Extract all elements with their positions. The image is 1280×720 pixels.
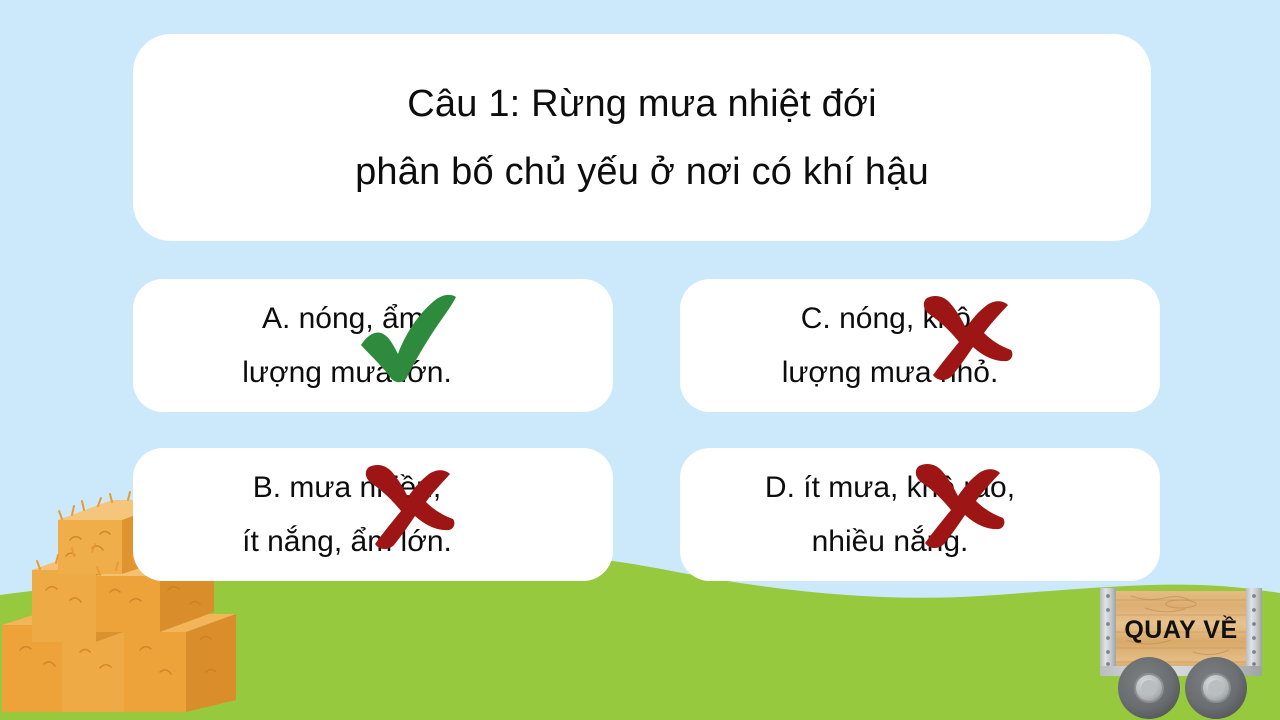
option-card-b[interactable]: B. mưa nhiều, ít nắng, ẩm lớn. — [133, 448, 613, 581]
option-a-text: A. nóng, ẩm, lượng mưa lớn. — [242, 304, 452, 388]
option-card-c[interactable]: C. nóng, khô, lượng mưa nhỏ. — [680, 279, 1160, 412]
option-c-line-1: C. nóng, khô, — [782, 304, 999, 334]
quiz-slide: Câu 1: Rừng mưa nhiệt đới phân bố chủ yế… — [0, 0, 1280, 720]
option-b-line-1: B. mưa nhiều, — [242, 473, 452, 503]
question-line-2: phân bố chủ yếu ở nơi có khí hậu — [355, 153, 929, 191]
option-a-line-2: lượng mưa lớn. — [242, 358, 452, 388]
option-d-text: D. ít mưa, khô ráo, nhiều nắng. — [765, 473, 1015, 557]
option-a-line-1: A. nóng, ẩm, — [242, 304, 452, 334]
option-d-line-2: nhiều nắng. — [765, 527, 1015, 557]
option-c-line-2: lượng mưa nhỏ. — [782, 358, 999, 388]
option-d-line-1: D. ít mưa, khô ráo, — [765, 473, 1015, 503]
quay-ve-button[interactable]: QUAY VỀ — [1097, 588, 1265, 720]
option-b-line-2: ít nắng, ẩm lớn. — [242, 527, 452, 557]
option-card-a[interactable]: A. nóng, ẩm, lượng mưa lớn. — [133, 279, 613, 412]
question-card: Câu 1: Rừng mưa nhiệt đới phân bố chủ yế… — [133, 34, 1151, 241]
wagon-icon — [1097, 588, 1265, 720]
option-card-d[interactable]: D. ít mưa, khô ráo, nhiều nắng. — [680, 448, 1160, 581]
option-c-text: C. nóng, khô, lượng mưa nhỏ. — [782, 304, 999, 388]
option-b-text: B. mưa nhiều, ít nắng, ẩm lớn. — [242, 473, 452, 557]
question-line-1: Câu 1: Rừng mưa nhiệt đới — [407, 85, 876, 123]
